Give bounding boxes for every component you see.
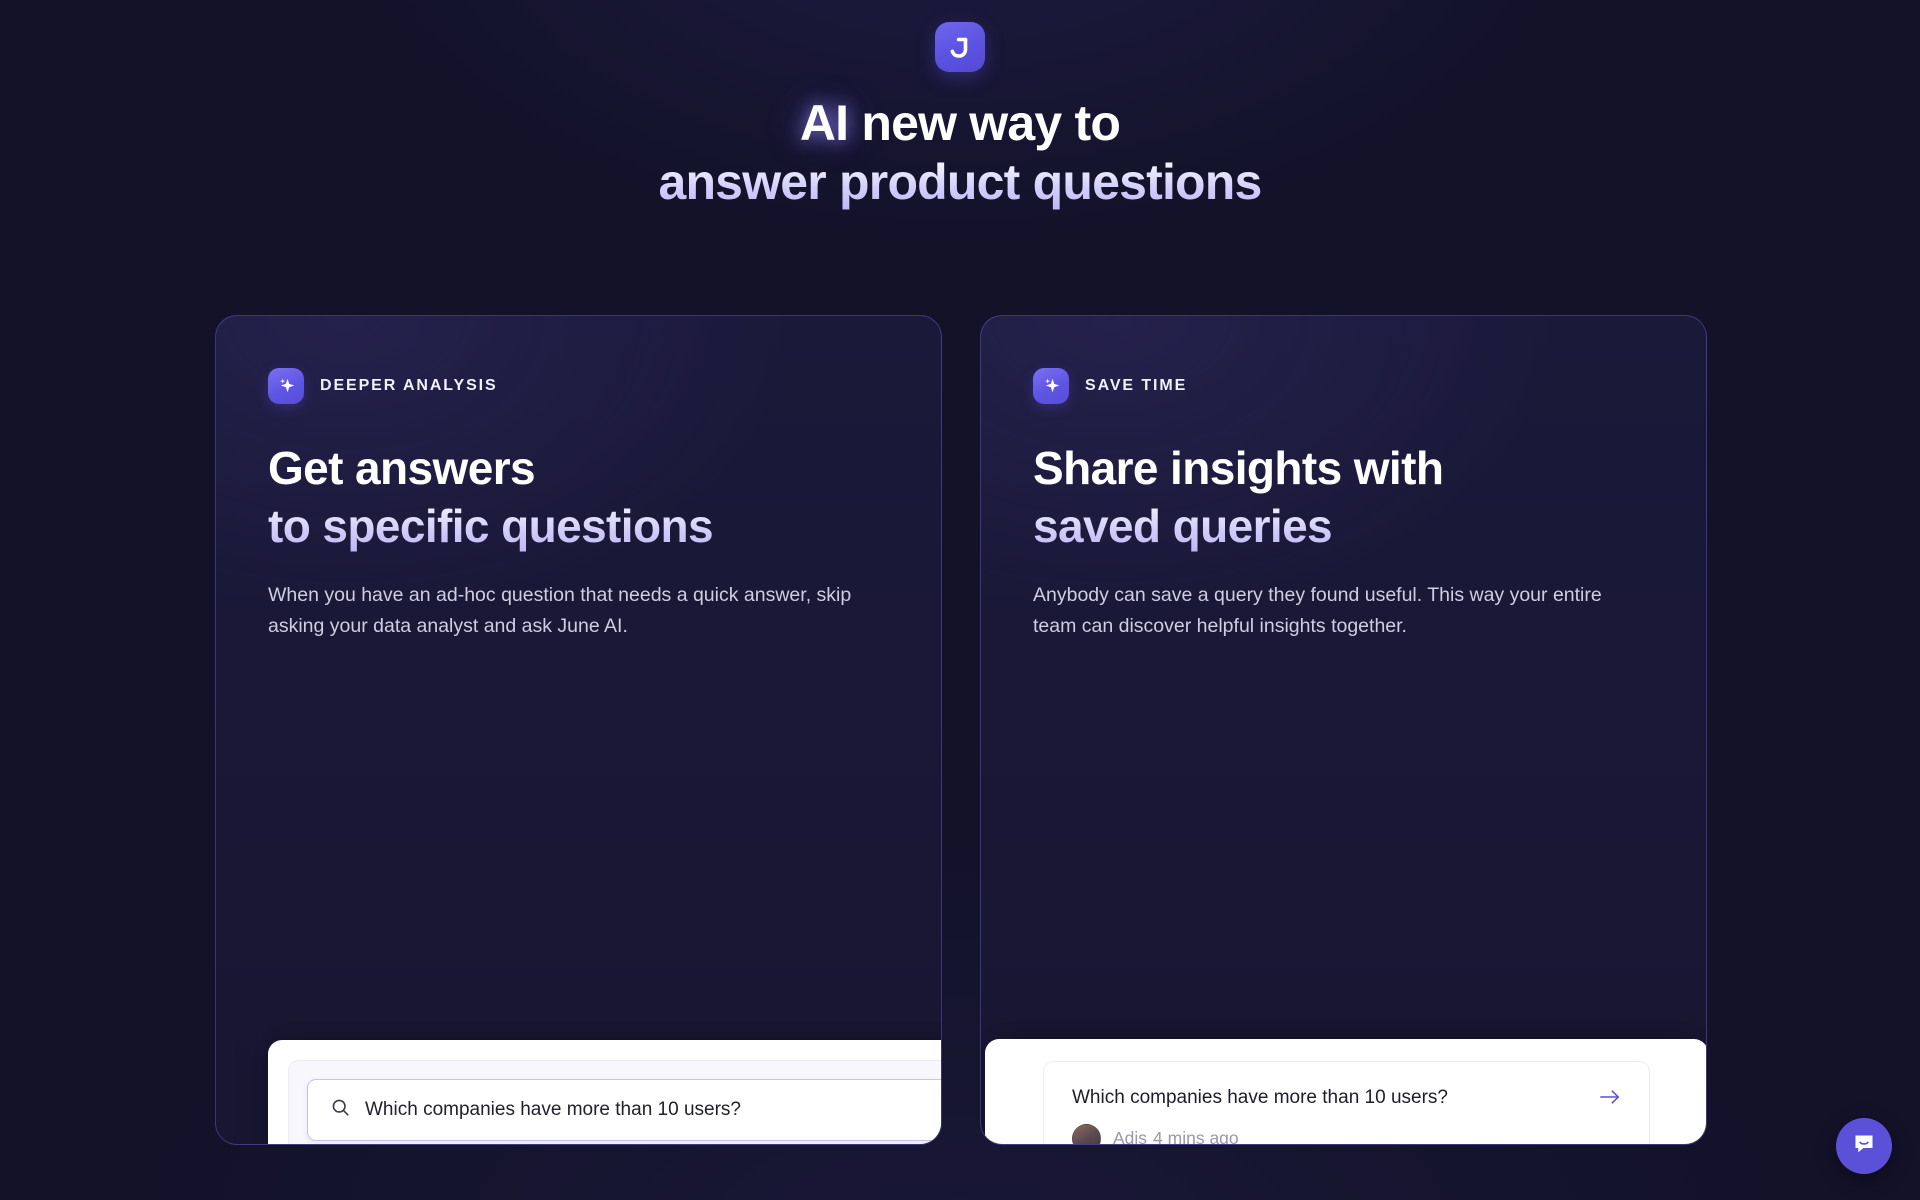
card-eyebrow: SAVE TIME (1033, 368, 1654, 404)
headline-line-1-rest: new way to (848, 95, 1120, 151)
search-icon (330, 1097, 351, 1123)
feature-cards: DEEPER ANALYSIS Get answers to specific … (215, 315, 1707, 1145)
list-item[interactable]: Which companies have more than 10 users?… (1044, 1062, 1649, 1145)
card-description: When you have an ad-hoc question that ne… (268, 580, 878, 643)
intercom-launcher-button[interactable] (1836, 1118, 1892, 1174)
card-title: Share insights with saved queries (1033, 440, 1654, 556)
feature-card-save-time: SAVE TIME Share insights with saved quer… (980, 315, 1707, 1145)
search-input[interactable]: Which companies have more than 10 users? (307, 1079, 942, 1141)
search-panel: Which companies have more than 10 users? (288, 1060, 942, 1145)
card-title-line-2: saved queries (1033, 498, 1654, 556)
saved-query-time: 4 mins ago (1153, 1128, 1239, 1145)
saved-queries-list: Which companies have more than 10 users?… (1043, 1061, 1650, 1145)
page-header: AI new way to answer product questions (0, 0, 1920, 212)
headline-accent-ai: AI (800, 95, 848, 151)
headline-line-1: AI new way to (658, 94, 1261, 153)
chat-bubble-icon (1851, 1131, 1877, 1162)
card-title: Get answers to specific questions (268, 440, 889, 556)
june-j-logo-icon[interactable] (935, 22, 985, 72)
card-title-line-1: Share insights with (1033, 440, 1654, 498)
avatar (1072, 1124, 1101, 1145)
sparkle-icon (1033, 368, 1069, 404)
feature-card-deeper-analysis: DEEPER ANALYSIS Get answers to specific … (215, 315, 942, 1145)
sparkle-icon (268, 368, 304, 404)
query-result-mockup: Which companies have more than 10 users?… (268, 1040, 942, 1145)
card-title-line-2: to specific questions (268, 498, 889, 556)
card-eyebrow-label: DEEPER ANALYSIS (320, 377, 498, 395)
page-title: AI new way to answer product questions (658, 94, 1261, 212)
saved-query-question: Which companies have more than 10 users? (1072, 1086, 1448, 1111)
card-description: Anybody can save a query they found usef… (1033, 580, 1643, 643)
saved-query-author: Adis (1113, 1128, 1147, 1145)
search-input-value: Which companies have more than 10 users? (365, 1099, 741, 1121)
saved-queries-mockup: Which companies have more than 10 users?… (985, 1039, 1707, 1145)
headline-line-2: answer product questions (658, 153, 1261, 212)
card-eyebrow-label: SAVE TIME (1085, 377, 1187, 395)
arrow-right-icon[interactable] (1599, 1086, 1621, 1111)
card-eyebrow: DEEPER ANALYSIS (268, 368, 889, 404)
card-title-line-1: Get answers (268, 440, 889, 498)
